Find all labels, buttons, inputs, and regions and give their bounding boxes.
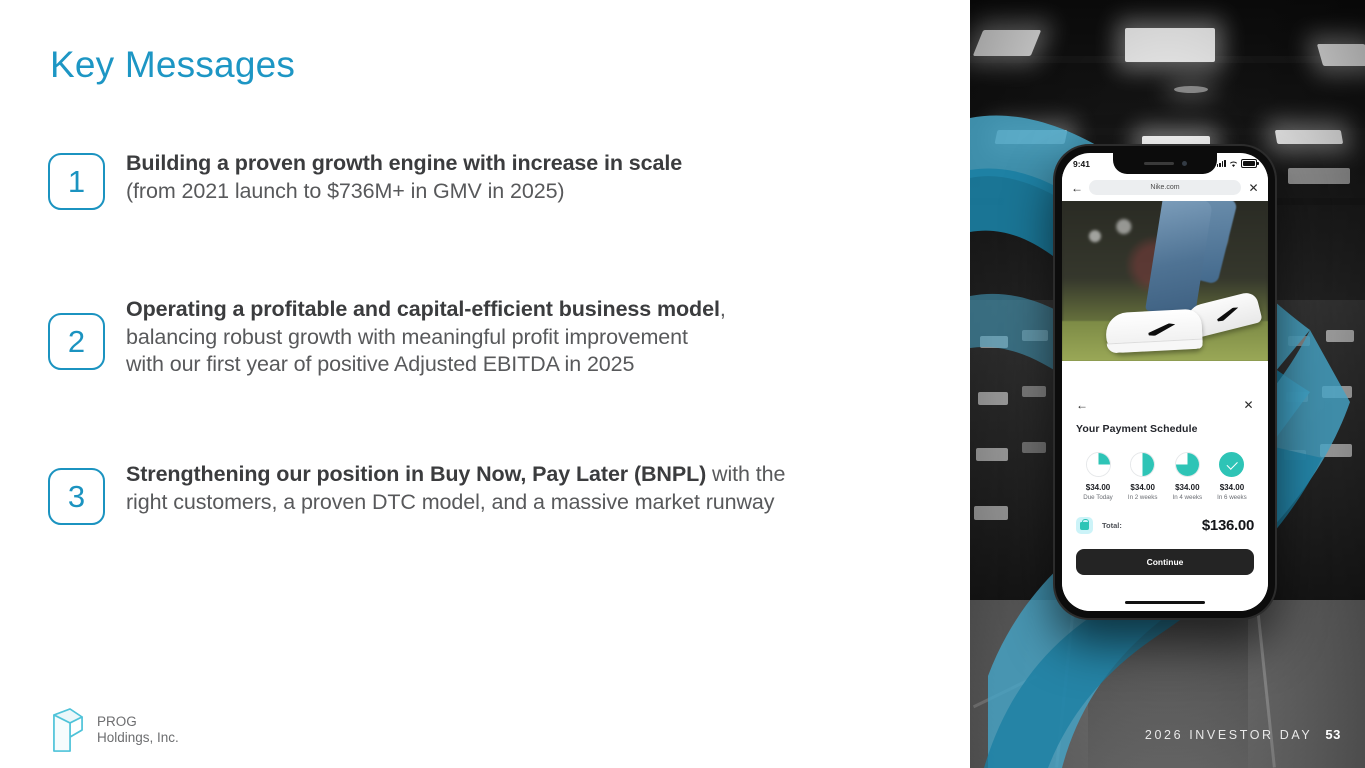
battery-icon — [1241, 159, 1257, 168]
installment-due: Due Today — [1076, 494, 1120, 501]
prog-logo-icon — [50, 708, 86, 752]
footer-event-name: 2026 INVESTOR DAY — [1145, 728, 1312, 742]
message-headline: Strengthening our position in Buy Now, P… — [126, 462, 706, 486]
message-text: Strengthening our position in Buy Now, P… — [126, 459, 785, 516]
installment-due: In 2 weeks — [1121, 494, 1165, 501]
status-time: 9:41 — [1073, 159, 1090, 169]
key-messages-list: 1 Building a proven growth engine with i… — [48, 148, 938, 525]
sheet-title: Your Payment Schedule — [1076, 423, 1254, 435]
prog-holdings-logo: PROG Holdings, Inc. — [50, 708, 179, 752]
speaker-icon — [1144, 162, 1174, 166]
installment-amount: $34.00 — [1210, 483, 1254, 492]
message-number-badge: 2 — [48, 313, 105, 370]
installment-item: $34.00 Due Today — [1076, 452, 1120, 501]
message-text: Building a proven growth engine with inc… — [126, 148, 682, 205]
phone-mockup: 9:41 ← Nike.com ✕ — [1055, 146, 1275, 618]
browser-back-icon[interactable]: ← — [1071, 182, 1082, 194]
page-title: Key Messages — [50, 44, 295, 86]
message-detail-line: with our first year of positive Adjusted… — [126, 351, 726, 379]
url-input[interactable]: Nike.com — [1089, 180, 1241, 195]
total-value: $136.00 — [1202, 517, 1254, 534]
installment-item: $34.00 In 6 weeks — [1210, 452, 1254, 501]
installment-item: $34.00 In 2 weeks — [1121, 452, 1165, 501]
sheet-close-icon[interactable]: ✕ — [1243, 399, 1254, 411]
sneaker-front — [1105, 309, 1203, 354]
continue-button[interactable]: Continue — [1076, 549, 1254, 575]
installment-due: In 4 weeks — [1165, 494, 1209, 501]
slide-footer: 2026 INVESTOR DAY 53 — [1145, 727, 1341, 742]
message-headline: Operating a profitable and capital-effic… — [126, 297, 720, 321]
phone-notch — [1113, 153, 1217, 174]
slide-right-visual: 9:41 ← Nike.com ✕ — [970, 0, 1365, 768]
prog-logo-text: PROG Holdings, Inc. — [97, 714, 179, 747]
home-indicator — [1125, 601, 1205, 604]
sheet-header: ← ✕ — [1076, 399, 1254, 411]
status-indicators — [1217, 159, 1257, 168]
signal-icon — [1217, 160, 1226, 167]
sheet-back-icon[interactable]: ← — [1076, 399, 1087, 411]
payment-installments: $34.00 Due Today $34.00 In 2 weeks — [1076, 452, 1254, 501]
message-text: Operating a profitable and capital-effic… — [126, 294, 726, 379]
check-icon — [1226, 459, 1237, 470]
slide-page-number: 53 — [1325, 727, 1341, 742]
installment-due: In 6 weeks — [1210, 494, 1254, 501]
key-message-item: 3 Strengthening our position in Buy Now,… — [48, 459, 938, 525]
message-detail-line: (from 2021 launch to $736M+ in GMV in 20… — [126, 178, 682, 206]
message-number-badge: 3 — [48, 468, 105, 525]
installment-amount: $34.00 — [1076, 483, 1120, 492]
installment-item: $34.00 In 4 weeks — [1165, 452, 1209, 501]
slide: Key Messages 1 Building a proven growth … — [0, 0, 1365, 768]
logo-subtitle: Holdings, Inc. — [97, 730, 179, 746]
progress-dial-complete-icon — [1219, 452, 1244, 477]
nike-swoosh-icon — [1215, 306, 1241, 323]
wifi-icon — [1229, 160, 1238, 168]
order-total-row: Total: $136.00 — [1076, 517, 1254, 534]
progress-dial-icon — [1130, 452, 1155, 477]
nike-swoosh-icon — [1147, 322, 1176, 336]
browser-url-bar[interactable]: ← Nike.com ✕ — [1062, 174, 1268, 201]
message-detail-line: right customers, a proven DTC model, and… — [126, 489, 785, 517]
progress-dial-icon — [1175, 452, 1200, 477]
message-detail-line: balancing robust growth with meaningful … — [126, 324, 726, 352]
key-message-item: 2 Operating a profitable and capital-eff… — [48, 294, 938, 379]
message-headline: Building a proven growth engine with inc… — [126, 151, 682, 175]
installment-amount: $34.00 — [1165, 483, 1209, 492]
message-number-badge: 1 — [48, 153, 105, 210]
phone-screen: 9:41 ← Nike.com ✕ — [1062, 153, 1268, 611]
installment-amount: $34.00 — [1121, 483, 1165, 492]
slide-left-content: Key Messages 1 Building a proven growth … — [0, 0, 970, 768]
product-hero-image — [1062, 201, 1268, 361]
browser-close-icon[interactable]: ✕ — [1248, 182, 1259, 194]
logo-name: PROG — [97, 714, 179, 730]
total-label: Total: — [1102, 521, 1122, 530]
progress-dial-icon — [1086, 452, 1111, 477]
key-message-item: 1 Building a proven growth engine with i… — [48, 148, 938, 210]
shopping-bag-icon — [1076, 517, 1093, 534]
message-headline-suffix: , — [720, 297, 726, 321]
camera-icon — [1182, 161, 1187, 166]
message-headline-suffix: with the — [706, 462, 785, 486]
payment-schedule-sheet: ← ✕ Your Payment Schedule $34.00 Due Tod… — [1062, 389, 1268, 611]
